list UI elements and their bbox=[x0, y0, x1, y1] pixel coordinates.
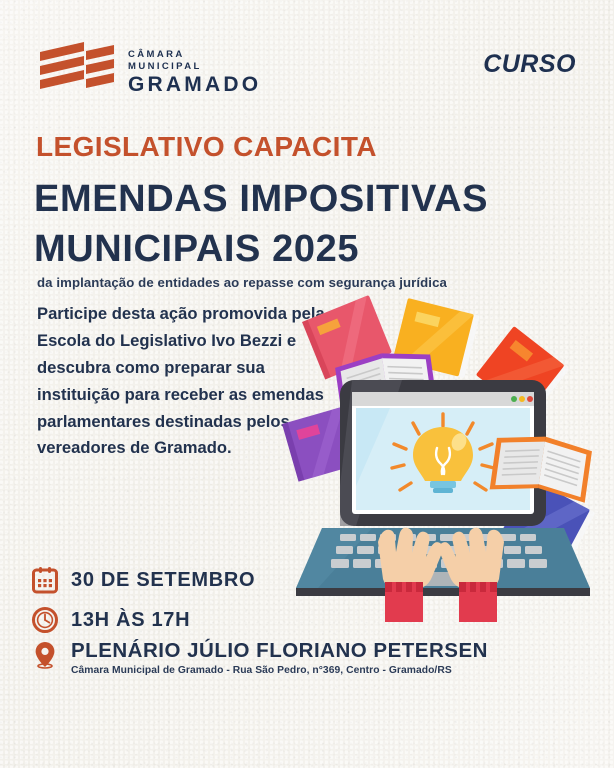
poster-canvas: CÂMARA MUNICIPAL GRAMADO CURSO LEGISLATI… bbox=[0, 0, 614, 768]
event-place-text: PLENÁRIO JÚLIO FLORIANO PETERSEN bbox=[71, 640, 488, 662]
event-address-text: Câmara Municipal de Gramado - Rua São Pe… bbox=[71, 665, 488, 676]
event-place-row: PLENÁRIO JÚLIO FLORIANO PETERSEN Câmara … bbox=[32, 640, 512, 676]
logo-line-municipal: MUNICIPAL bbox=[128, 62, 261, 72]
logo-wordmark: CÂMARA MUNICIPAL GRAMADO bbox=[128, 48, 261, 95]
clock-icon bbox=[32, 606, 58, 634]
page-title: EMENDAS IMPOSITIVAS MUNICIPAIS 2025 bbox=[34, 174, 574, 274]
subtitle: da implantação de entidades ao repasse c… bbox=[37, 275, 447, 290]
logo-line-gramado: GRAMADO bbox=[128, 74, 261, 95]
event-time-row: 13H ÀS 17H bbox=[32, 600, 512, 640]
event-place-block: PLENÁRIO JÚLIO FLORIANO PETERSEN Câmara … bbox=[71, 640, 488, 676]
kicker-title: LEGISLATIVO CAPACITA bbox=[36, 131, 377, 163]
header: CÂMARA MUNICIPAL GRAMADO CURSO bbox=[38, 42, 576, 114]
event-date-text: 30 DE SETEMBRO bbox=[71, 569, 255, 592]
logo-line-camara: CÂMARA bbox=[128, 50, 261, 60]
event-date-row: 30 DE SETEMBRO bbox=[32, 560, 512, 600]
event-details: 30 DE SETEMBRO 13H ÀS 17H PLENÁRIO JÚLIO… bbox=[32, 560, 512, 676]
calendar-icon bbox=[32, 566, 58, 594]
curso-badge: CURSO bbox=[483, 50, 576, 79]
camara-gramado-logo-icon bbox=[38, 42, 116, 100]
event-time-text: 13H ÀS 17H bbox=[71, 609, 190, 632]
location-pin-icon bbox=[32, 641, 58, 669]
